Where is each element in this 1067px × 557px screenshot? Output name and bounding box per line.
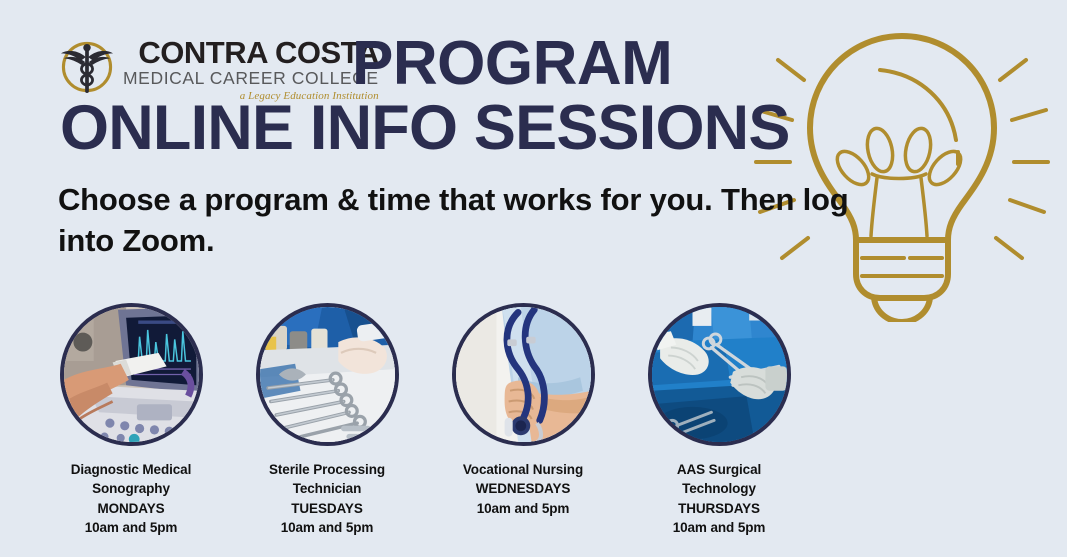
nurse-stethoscope-photo bbox=[452, 303, 595, 446]
program-day: WEDNESDAYS bbox=[463, 479, 583, 498]
program-caption: Vocational Nursing WEDNESDAYS 10am and 5… bbox=[463, 460, 583, 518]
program-name-line-1: Diagnostic Medical bbox=[71, 460, 191, 479]
program-times: 10am and 5pm bbox=[269, 518, 385, 537]
program-caption: AAS Surgical Technology THURSDAYS 10am a… bbox=[673, 460, 766, 538]
program-card-sterile-processing[interactable]: Sterile Processing Technician TUESDAYS 1… bbox=[229, 303, 425, 538]
program-day: TUESDAYS bbox=[269, 499, 385, 518]
program-times: 10am and 5pm bbox=[463, 499, 583, 518]
light-bulb-icon bbox=[752, 22, 1052, 322]
headline-program-word: PROGRAM bbox=[352, 33, 672, 95]
program-caption: Sterile Processing Technician TUESDAYS 1… bbox=[269, 460, 385, 538]
program-card-surgical-technology[interactable]: AAS Surgical Technology THURSDAYS 10am a… bbox=[621, 303, 817, 538]
program-name-line-2: Sonography bbox=[71, 479, 191, 498]
program-times: 10am and 5pm bbox=[673, 518, 766, 537]
program-name-line-2: Technology bbox=[673, 479, 766, 498]
program-day: MONDAYS bbox=[71, 499, 191, 518]
program-name-line-2: Technician bbox=[269, 479, 385, 498]
program-day: THURSDAYS bbox=[673, 499, 766, 518]
ultrasound-sonography-photo bbox=[60, 303, 203, 446]
program-caption: Diagnostic Medical Sonography MONDAYS 10… bbox=[71, 460, 191, 538]
bulb-base bbox=[856, 240, 948, 298]
program-name-line-1: Vocational Nursing bbox=[463, 460, 583, 479]
logo-name-line-1: CONTRA COSTA bbox=[138, 38, 378, 68]
program-card-sonography[interactable]: Diagnostic Medical Sonography MONDAYS 10… bbox=[33, 303, 229, 538]
headline-online-info-sessions: ONLINE INFO SESSIONS bbox=[60, 97, 790, 160]
surgical-instruments-photo bbox=[256, 303, 399, 446]
subheading-text: Choose a program & time that works for y… bbox=[58, 180, 858, 262]
program-name-line-1: Sterile Processing bbox=[269, 460, 385, 479]
program-card-vocational-nursing[interactable]: Vocational Nursing WEDNESDAYS 10am and 5… bbox=[425, 303, 621, 538]
program-name-line-1: AAS Surgical bbox=[673, 460, 766, 479]
college-logo: CONTRA COSTA MEDICAL CAREER COLLEGE a Le… bbox=[56, 36, 379, 102]
program-list: Diagnostic Medical Sonography MONDAYS 10… bbox=[0, 303, 1067, 538]
operating-room-photo bbox=[648, 303, 791, 446]
logo-name-line-2: MEDICAL CAREER COLLEGE bbox=[123, 69, 379, 88]
caduceus-icon bbox=[56, 36, 118, 98]
program-times: 10am and 5pm bbox=[71, 518, 191, 537]
